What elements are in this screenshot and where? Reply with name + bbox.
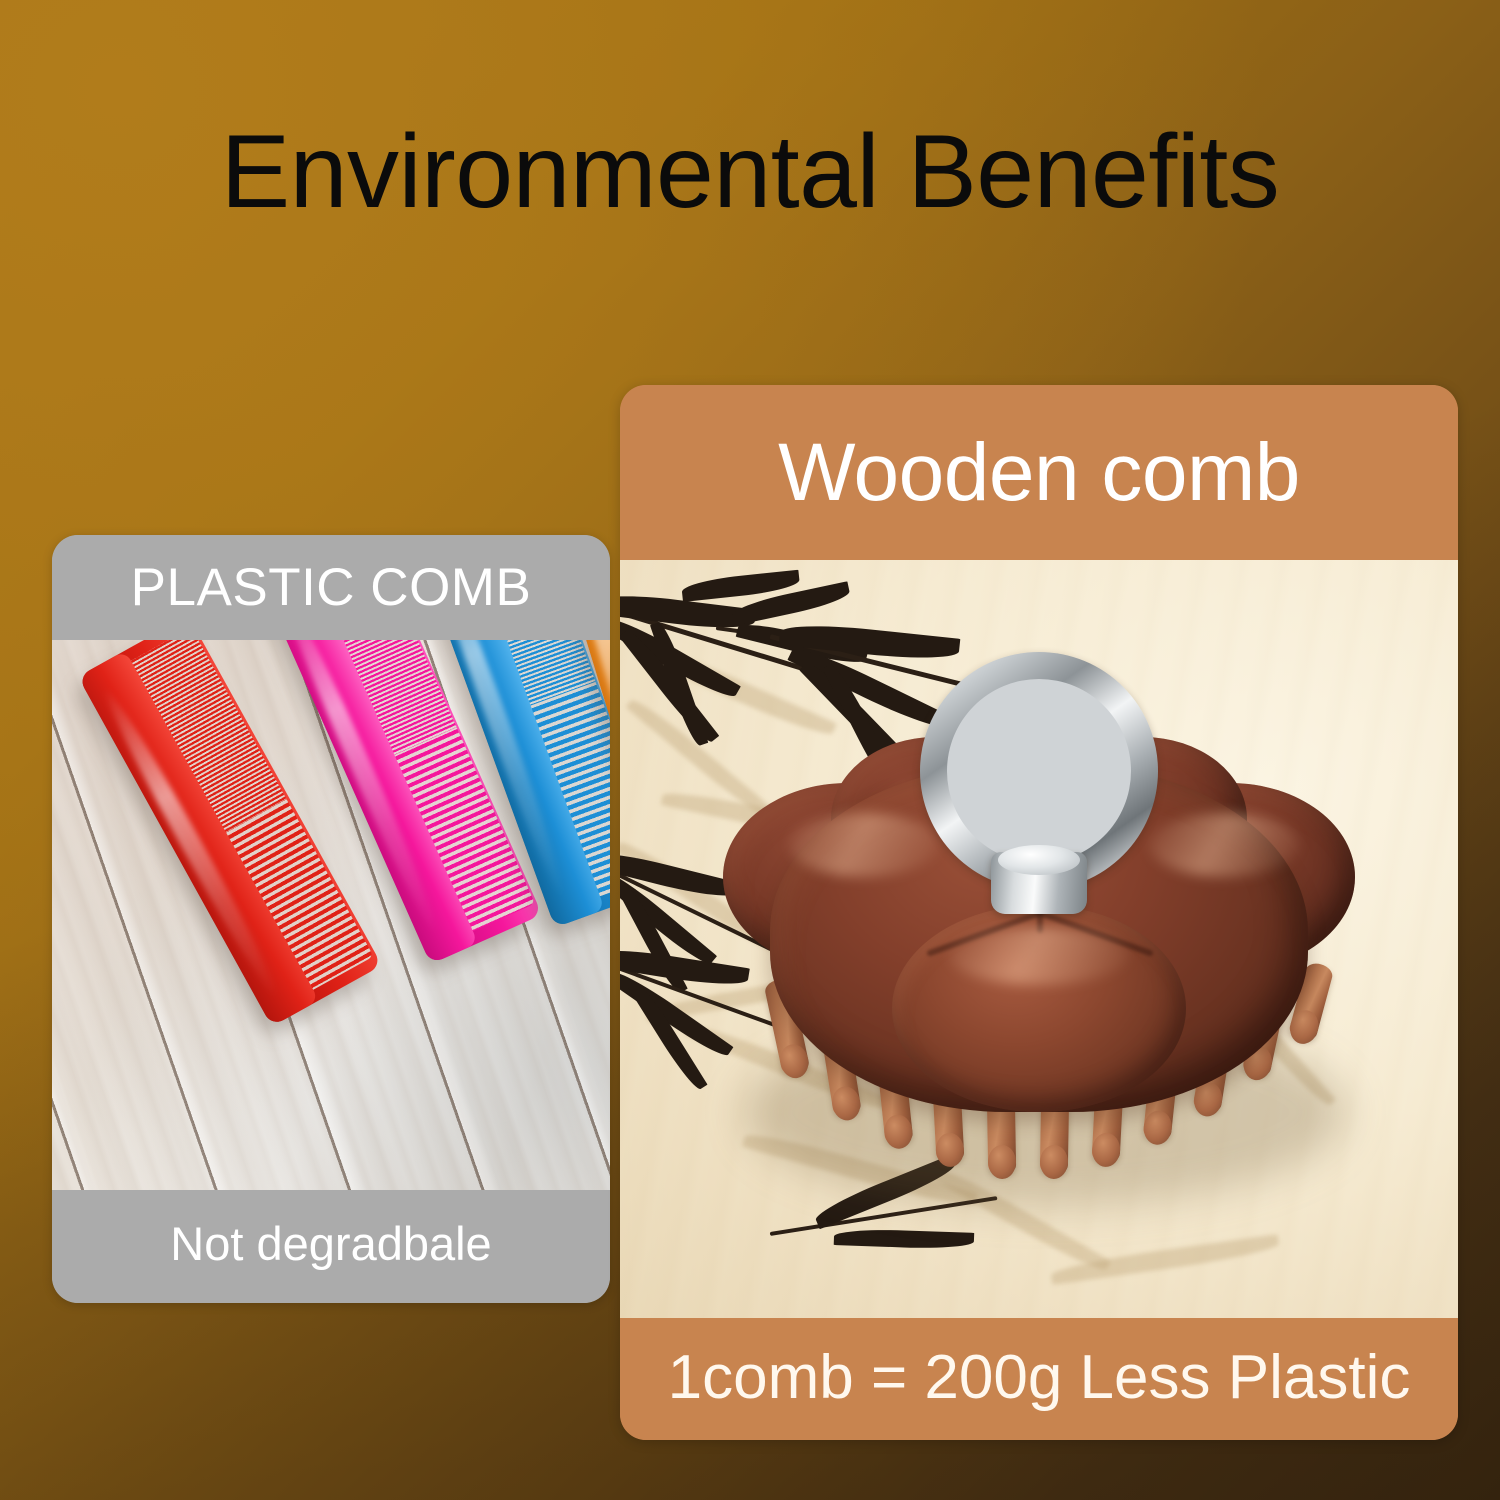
wood-highlight	[949, 927, 1129, 985]
ring-handle	[920, 652, 1158, 890]
wooden-comb-photo	[620, 560, 1458, 1318]
plastic-card-header: PLASTIC COMB	[52, 535, 610, 640]
ring-mount-cap	[998, 845, 1080, 875]
wooden-card-header: Wooden comb	[620, 385, 1458, 560]
wooden-card-footer: 1comb = 200g Less Plastic	[620, 1318, 1458, 1440]
wooden-comb-card: Wooden comb	[620, 385, 1458, 1440]
wood-highlight	[1149, 813, 1299, 877]
wooden-card-header-label: Wooden comb	[778, 426, 1300, 520]
ring-opening	[974, 706, 1104, 836]
page-title: Environmental Benefits	[0, 118, 1500, 227]
wooden-scalp-massager	[719, 727, 1359, 1197]
plastic-card-header-label: PLASTIC COMB	[131, 557, 532, 618]
plastic-card-footer-label: Not degradbale	[170, 1216, 491, 1271]
wooden-card-footer-label: 1comb = 200g Less Plastic	[668, 1342, 1411, 1413]
plastic-card-footer: Not degradbale	[52, 1190, 610, 1303]
plastic-comb-card: PLASTIC COMB	[52, 535, 610, 1303]
ring-mount-base	[991, 852, 1087, 914]
wood-highlight	[789, 813, 939, 877]
plastic-comb-photo	[52, 640, 610, 1190]
infographic-canvas: Environmental Benefits PLASTIC COMB	[0, 0, 1500, 1500]
